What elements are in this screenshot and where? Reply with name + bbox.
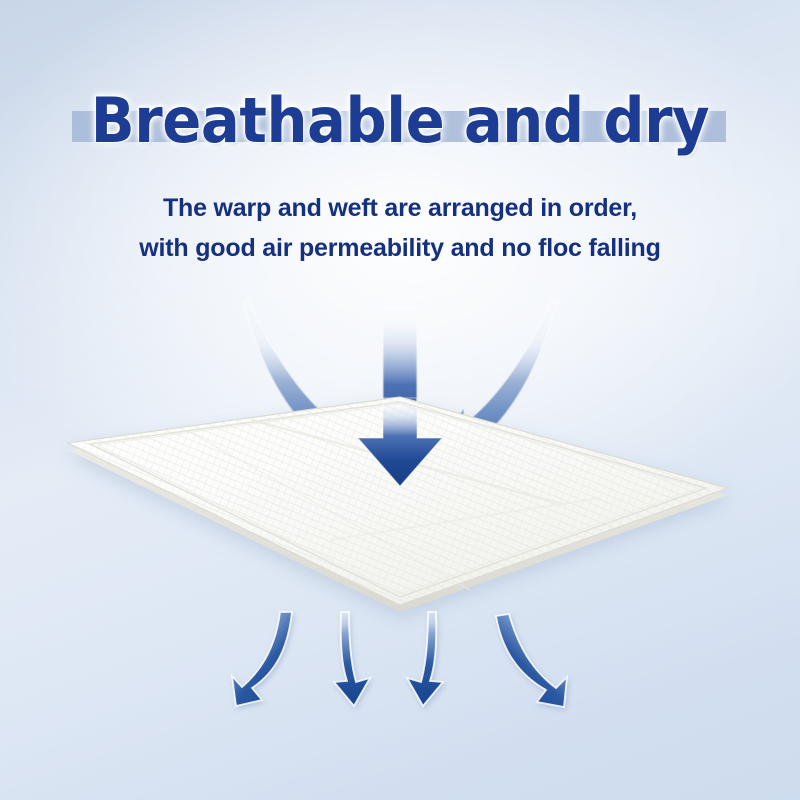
outflow-arrow-2: [334, 612, 370, 706]
outflow-arrows: [232, 612, 567, 707]
illustration: [0, 0, 800, 800]
outflow-arrow-4: [496, 614, 567, 707]
outflow-arrow-3: [407, 612, 443, 706]
outflow-arrow-1: [232, 612, 292, 706]
product-feature-banner: Breathable and dry The warp and weft are…: [0, 0, 800, 800]
